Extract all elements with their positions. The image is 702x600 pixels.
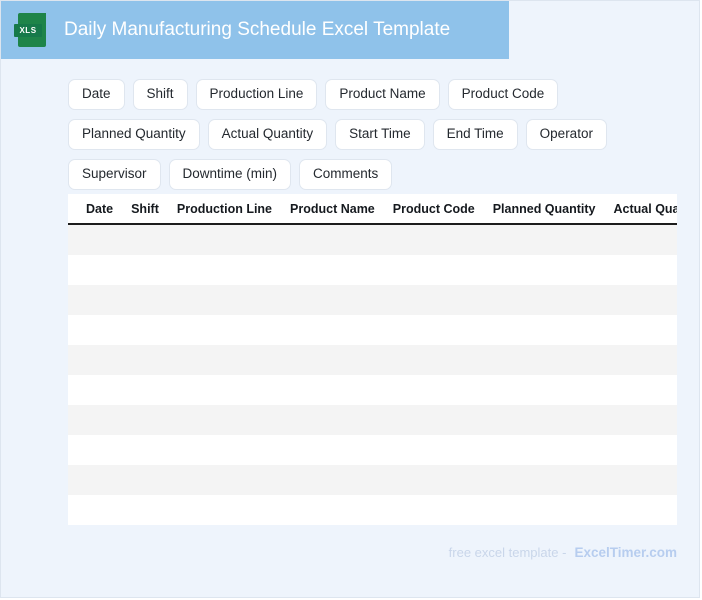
table-cell[interactable]: [273, 225, 363, 255]
table-cell[interactable]: [273, 315, 363, 345]
table-cell[interactable]: [127, 225, 177, 255]
field-chip[interactable]: Actual Quantity: [208, 119, 328, 150]
table-cell[interactable]: [273, 435, 363, 465]
table-cell[interactable]: [273, 345, 363, 375]
table-cell[interactable]: [650, 225, 677, 255]
table-cell[interactable]: [273, 465, 363, 495]
footer-brand[interactable]: ExcelTimer.com: [574, 545, 677, 560]
table-cell[interactable]: [363, 375, 452, 405]
table-cell[interactable]: [273, 255, 363, 285]
table-scroll-area[interactable]: DateShiftProduction LineProduct NameProd…: [68, 194, 677, 525]
table-cell[interactable]: [127, 495, 177, 525]
template-table: DateShiftProduction LineProduct NameProd…: [68, 194, 677, 525]
table-cell[interactable]: [363, 495, 452, 525]
table-cell[interactable]: [363, 285, 452, 315]
table-column-header: Product Code: [384, 202, 484, 216]
table-cell[interactable]: [363, 465, 452, 495]
table-cell[interactable]: [177, 255, 273, 285]
table-column-header: Shift: [122, 202, 168, 216]
table-cell[interactable]: [77, 315, 127, 345]
table-row[interactable]: [68, 345, 677, 375]
table-cell[interactable]: [557, 315, 650, 345]
table-cell[interactable]: [363, 435, 452, 465]
table-cell[interactable]: [273, 405, 363, 435]
table-cell[interactable]: [77, 465, 127, 495]
field-chip[interactable]: Supervisor: [68, 159, 161, 190]
field-chip[interactable]: Downtime (min): [169, 159, 292, 190]
table-cell[interactable]: [273, 495, 363, 525]
field-chip-list: DateShiftProduction LineProduct NameProd…: [68, 79, 684, 190]
xls-file-icon: XLS: [18, 13, 46, 47]
table-cell[interactable]: [177, 315, 273, 345]
table-column-header: Production Line: [168, 202, 281, 216]
page-header: XLS Daily Manufacturing Schedule Excel T…: [1, 1, 509, 59]
table-cell[interactable]: [451, 255, 557, 285]
field-chip[interactable]: Operator: [526, 119, 607, 150]
table-cell[interactable]: [127, 435, 177, 465]
table-row[interactable]: [68, 375, 677, 405]
table-cell[interactable]: [177, 405, 273, 435]
table-cell[interactable]: [451, 315, 557, 345]
table-cell[interactable]: [451, 495, 557, 525]
table-cell[interactable]: [650, 345, 677, 375]
table-cell[interactable]: [273, 375, 363, 405]
table-cell[interactable]: [451, 225, 557, 255]
table-cell[interactable]: [650, 465, 677, 495]
field-chip[interactable]: End Time: [433, 119, 518, 150]
table-cell[interactable]: [363, 315, 452, 345]
table-cell[interactable]: [177, 495, 273, 525]
table-cell[interactable]: [557, 255, 650, 285]
table-cell[interactable]: [177, 465, 273, 495]
table-column-header: Actual Quantity: [605, 202, 677, 216]
table-cell[interactable]: [557, 465, 650, 495]
table-cell[interactable]: [451, 375, 557, 405]
table-row[interactable]: [68, 255, 677, 285]
page-root: XLS Daily Manufacturing Schedule Excel T…: [0, 0, 700, 598]
table-cell[interactable]: [557, 435, 650, 465]
table-row[interactable]: [68, 405, 677, 435]
field-chip[interactable]: Product Name: [325, 79, 439, 110]
table-cell[interactable]: [127, 465, 177, 495]
field-chip[interactable]: Product Code: [448, 79, 559, 110]
table-cell[interactable]: [77, 405, 127, 435]
table-cell[interactable]: [77, 375, 127, 405]
table-cell[interactable]: [650, 255, 677, 285]
table-cell[interactable]: [451, 465, 557, 495]
field-chip[interactable]: Start Time: [335, 119, 425, 150]
table-cell[interactable]: [127, 255, 177, 285]
table-cell[interactable]: [127, 285, 177, 315]
table-cell[interactable]: [177, 285, 273, 315]
field-chip[interactable]: Shift: [133, 79, 188, 110]
field-chip[interactable]: Date: [68, 79, 125, 110]
table-cell[interactable]: [650, 435, 677, 465]
table-cell[interactable]: [650, 285, 677, 315]
table-cell[interactable]: [650, 405, 677, 435]
page-title: Daily Manufacturing Schedule Excel Templ…: [64, 19, 450, 41]
table-cell[interactable]: [273, 285, 363, 315]
table-cell[interactable]: [557, 285, 650, 315]
table-row[interactable]: [68, 285, 677, 315]
table-cell[interactable]: [127, 315, 177, 345]
table-cell[interactable]: [77, 495, 127, 525]
table-body: [68, 225, 677, 525]
table-cell[interactable]: [363, 345, 452, 375]
footer-text: free excel template -: [449, 545, 567, 560]
table-cell[interactable]: [177, 435, 273, 465]
table-cell[interactable]: [650, 315, 677, 345]
table-cell[interactable]: [177, 375, 273, 405]
table-header-row: DateShiftProduction LineProduct NameProd…: [68, 194, 677, 225]
xls-icon-label: XLS: [14, 24, 42, 37]
table-cell[interactable]: [127, 405, 177, 435]
field-chip[interactable]: Production Line: [196, 79, 318, 110]
table-cell[interactable]: [650, 375, 677, 405]
footer: free excel template - ExcelTimer.com: [449, 545, 677, 560]
table-cell[interactable]: [177, 345, 273, 375]
table-cell[interactable]: [77, 285, 127, 315]
table-cell[interactable]: [451, 435, 557, 465]
table-cell[interactable]: [177, 225, 273, 255]
table-cell[interactable]: [650, 495, 677, 525]
table-row[interactable]: [68, 495, 677, 525]
table-row[interactable]: [68, 465, 677, 495]
field-chip[interactable]: Comments: [299, 159, 392, 190]
table-row[interactable]: [68, 315, 677, 345]
table-cell[interactable]: [77, 435, 127, 465]
table-cell[interactable]: [127, 345, 177, 375]
table-column-header: Date: [77, 202, 122, 216]
table-cell[interactable]: [557, 405, 650, 435]
table-cell[interactable]: [363, 255, 452, 285]
table-column-header: Product Name: [281, 202, 384, 216]
field-chip[interactable]: Planned Quantity: [68, 119, 200, 150]
table-cell[interactable]: [557, 495, 650, 525]
table-row[interactable]: [68, 435, 677, 465]
table-cell[interactable]: [77, 225, 127, 255]
table-cell[interactable]: [451, 285, 557, 315]
table-cell[interactable]: [127, 375, 177, 405]
table-cell[interactable]: [557, 345, 650, 375]
table-cell[interactable]: [77, 255, 127, 285]
table-cell[interactable]: [451, 405, 557, 435]
table-cell[interactable]: [363, 405, 452, 435]
table-cell[interactable]: [451, 345, 557, 375]
table-cell[interactable]: [557, 225, 650, 255]
table-cell[interactable]: [363, 225, 452, 255]
table-cell[interactable]: [77, 345, 127, 375]
table-cell[interactable]: [557, 375, 650, 405]
table-column-header: Planned Quantity: [484, 202, 605, 216]
table-row[interactable]: [68, 225, 677, 255]
